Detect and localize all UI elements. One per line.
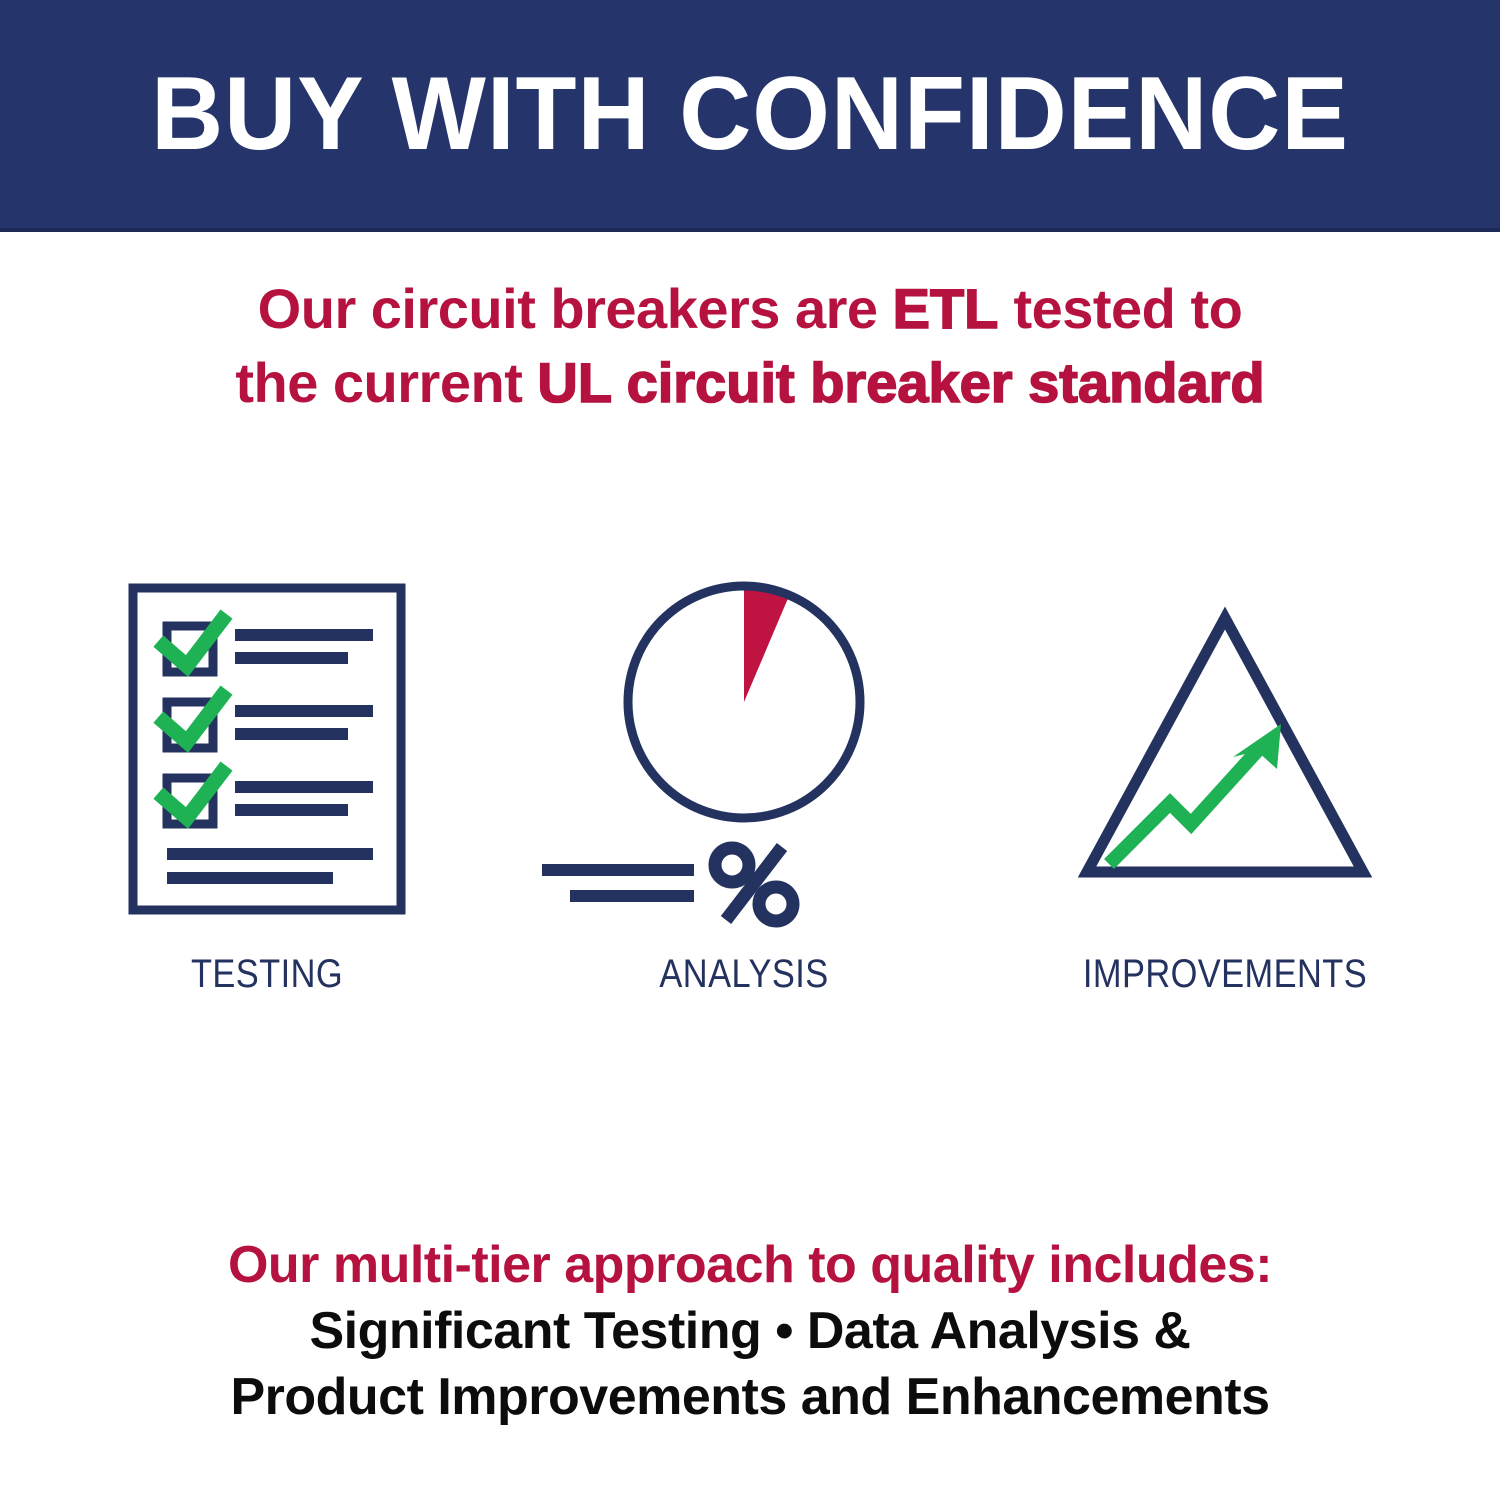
icon-label-improvements: IMPROVEMENTS	[1036, 952, 1414, 997]
footer-body-line-2: Product Improvements and Enhancements	[50, 1364, 1450, 1430]
percent-glyph	[715, 847, 793, 921]
icon-row: TESTING	[0, 560, 1500, 1040]
icon-cell-improvements: IMPROVEMENTS	[1005, 560, 1445, 1040]
icon-cell-testing: TESTING	[47, 560, 487, 1040]
infographic-page: BUY WITH CONFIDENCE Our circuit breakers…	[0, 0, 1500, 1500]
icon-label-testing: TESTING	[78, 952, 456, 997]
subtitle-line1-text-b: tested to	[998, 277, 1242, 340]
footer-body: Significant Testing • Data Analysis & Pr…	[50, 1298, 1450, 1430]
page-title: BUY WITH CONFIDENCE	[30, 0, 1470, 228]
checklist-icon	[47, 560, 487, 940]
subtitle-line-2: the current UL circuit breaker standard	[50, 346, 1450, 420]
footer-text-block: Our multi-tier approach to quality inclu…	[50, 1232, 1450, 1430]
pie-chart-percent-icon	[524, 560, 964, 940]
subtitle-line-1: Our circuit breakers are ETL tested to	[50, 272, 1450, 346]
icon-label-analysis: ANALYSIS	[555, 952, 933, 997]
subtitle: Our circuit breakers are ETL tested to t…	[50, 272, 1450, 420]
subtitle-line1-text-a: Our circuit breakers are	[258, 277, 893, 340]
icon-cell-analysis: ANALYSIS	[524, 560, 964, 1040]
triangle-growth-arrow-icon	[1005, 560, 1445, 940]
header-banner: BUY WITH CONFIDENCE	[0, 0, 1500, 232]
footer-lead: Our multi-tier approach to quality inclu…	[50, 1232, 1450, 1298]
subtitle-ul-emphasis: UL circuit breaker standard	[537, 351, 1264, 414]
subtitle-line2-text-a: the current	[235, 351, 537, 414]
footer-body-line-1: Significant Testing • Data Analysis &	[50, 1298, 1450, 1364]
subtitle-etl-emphasis: ETL	[893, 277, 999, 340]
